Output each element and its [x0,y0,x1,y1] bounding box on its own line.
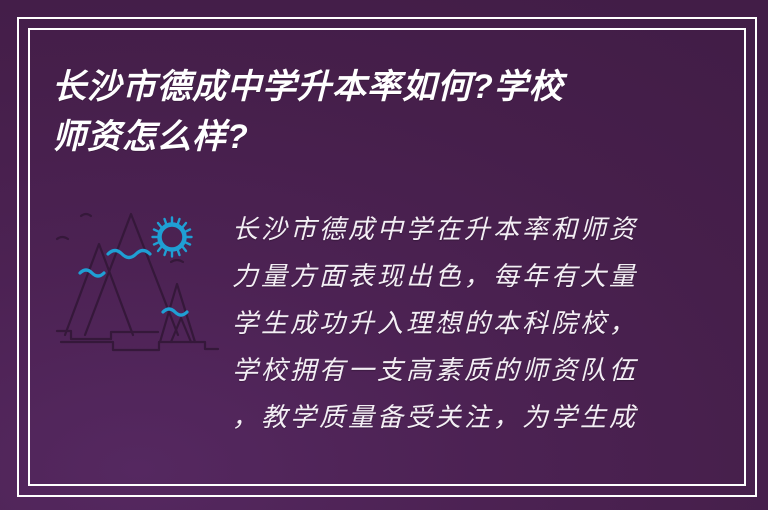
medium-mountain-peak [65,244,133,335]
body-line-1: 长沙市德成中学在升本率和师资 [232,206,672,253]
cloud-dash-right [171,260,183,262]
snow-wave-line-small [163,309,187,315]
sun-burst-icon [153,218,192,257]
stepped-ground-line-lower [61,342,218,350]
body-line-4: 学校拥有一支高素质的师资队伍 [232,347,672,394]
title-line-1: 长沙市德成中学升本率如何?学校 [52,62,652,112]
title-line-2: 师资怎么样? [52,112,652,162]
page-title: 长沙市德成中学升本率如何?学校 师资怎么样? [52,62,652,162]
poster-canvas: 长沙市德成中学升本率如何?学校 师资怎么样? [0,0,768,510]
cloud-dash-top-left [81,214,91,216]
body-line-3: 学生成功升入理想的本科院校， [232,300,672,347]
mountains-and-sun-illustration [55,192,220,367]
snow-wave-line-medium [80,270,104,276]
cloud-dash-left [57,237,68,239]
stepped-ground-line-upper [57,331,158,339]
body-line-5: ，教学质量备受关注，为学生成 [232,394,672,441]
body-text: 长沙市德成中学在升本率和师资 力量方面表现出色，每年有大量 学生成功升入理想的本… [232,206,672,441]
body-line-2: 力量方面表现出色，每年有大量 [232,253,672,300]
